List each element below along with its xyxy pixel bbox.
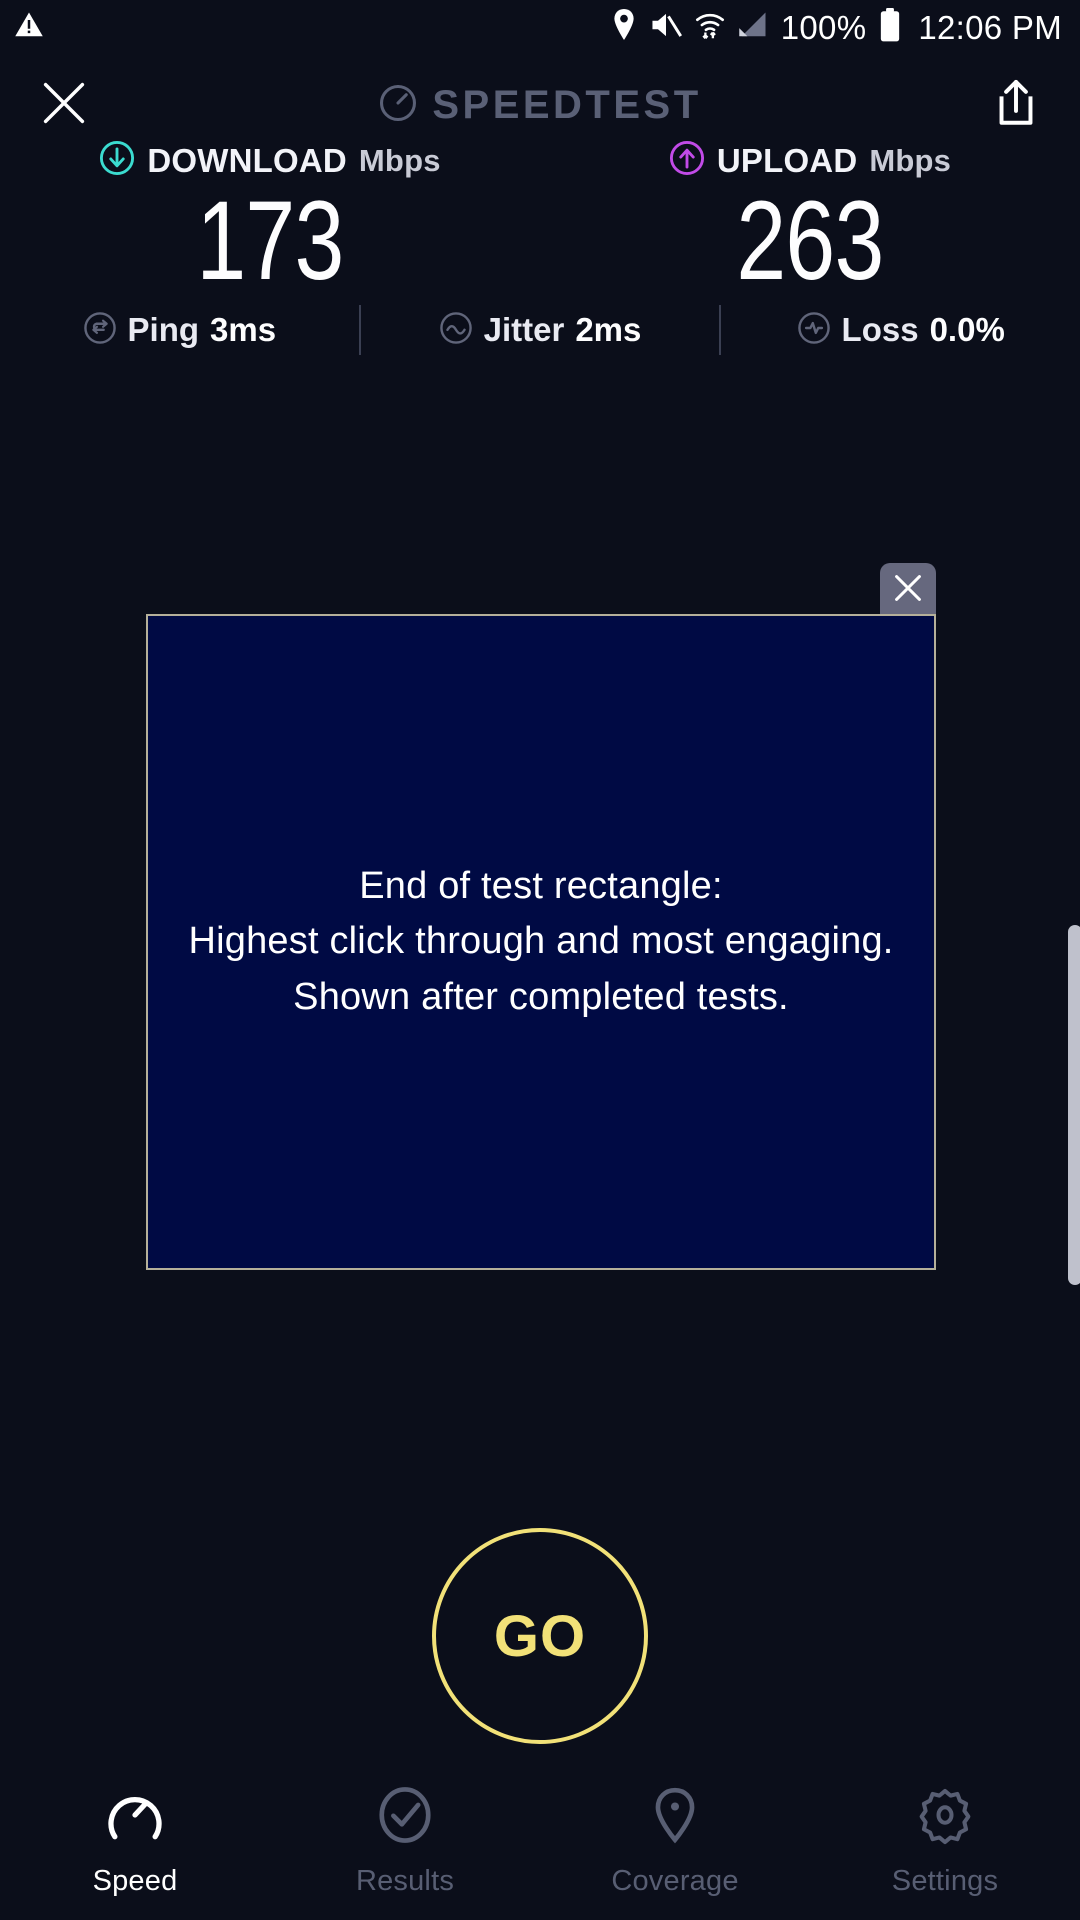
jitter-label: Jitter [484,311,565,349]
loss-icon [797,311,831,350]
tab-results[interactable]: Results [270,1784,540,1898]
ping-icon [83,311,117,350]
status-bar-right-icons: 100% 12:06 PM [611,8,1062,47]
close-button[interactable] [32,73,96,137]
status-bar-clock: 12:06 PM [918,9,1062,47]
go-button-label: GO [494,1603,586,1670]
upload-header: UPLOAD Mbps [669,140,951,181]
share-icon [993,78,1039,133]
download-label: DOWNLOAD [147,142,347,180]
download-header: DOWNLOAD Mbps [99,140,440,181]
ad-close-button[interactable] [880,563,936,617]
tab-speed[interactable]: Speed [0,1784,270,1898]
loss-metric: Loss 0.0% [721,311,1080,350]
battery-full-icon [879,8,901,47]
tab-settings-label: Settings [892,1865,998,1898]
speedtest-app-screen: 100% 12:06 PM SPEEDTEST [0,0,1080,1920]
jitter-value: 2ms [575,311,641,349]
mute-icon [650,10,682,45]
share-button[interactable] [984,73,1048,137]
ping-metric: Ping 3ms [0,311,359,350]
close-icon [41,80,87,131]
download-result: DOWNLOAD Mbps 173 [0,140,540,297]
close-icon [892,572,924,609]
tab-settings[interactable]: Settings [810,1784,1080,1898]
status-bar-left-icons [14,10,44,45]
download-arrow-icon [99,140,135,181]
wifi-icon [695,10,725,45]
tab-coverage-label: Coverage [611,1865,738,1898]
speed-results-row: DOWNLOAD Mbps 173 UPLOAD Mbps [0,140,1080,297]
loss-label: Loss [842,311,919,349]
ping-value: 3ms [210,311,276,349]
upload-arrow-icon [669,140,705,181]
speedometer-icon [104,1784,166,1851]
location-pin-icon [611,9,637,46]
results-panel: DOWNLOAD Mbps 173 UPLOAD Mbps [0,140,1080,297]
jitter-icon [439,311,473,350]
tab-coverage[interactable]: Coverage [540,1784,810,1898]
tab-speed-label: Speed [93,1865,178,1898]
tab-results-label: Results [356,1865,454,1898]
upload-value: 263 [736,185,883,297]
ad-banner[interactable]: End of test rectangle: Highest click thr… [146,614,936,1270]
cellular-signal-icon [738,11,768,44]
ad-text: End of test rectangle: Highest click thr… [188,859,893,1024]
network-metrics-row: Ping 3ms Jitter 2ms Loss 0.0% [0,300,1080,360]
location-pin-icon [644,1784,706,1851]
check-circle-icon [374,1784,436,1851]
download-value: 173 [196,185,343,297]
download-unit: Mbps [359,143,441,179]
speedometer-icon [378,83,418,128]
upload-result: UPLOAD Mbps 263 [540,140,1080,297]
warning-triangle-icon [14,10,44,45]
status-bar: 100% 12:06 PM [0,0,1080,55]
battery-percent-label: 100% [781,9,867,47]
page-scrollbar[interactable] [1068,925,1080,1285]
loss-value: 0.0% [930,311,1005,349]
page-title: SPEEDTEST [432,83,701,128]
gear-icon [914,1784,976,1851]
upload-unit: Mbps [869,143,951,179]
go-button[interactable]: GO [432,1528,648,1744]
bottom-navigation: Speed Results Coverage [0,1770,1080,1920]
ping-label: Ping [128,311,200,349]
jitter-metric: Jitter 2ms [361,311,720,350]
upload-label: UPLOAD [717,142,858,180]
